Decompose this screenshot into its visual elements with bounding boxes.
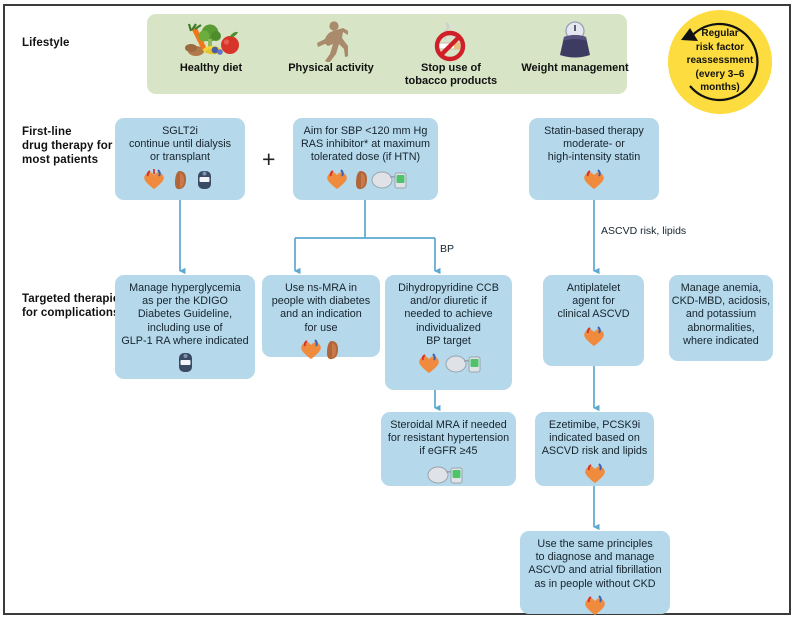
lifestyle-item-weight-management: Weight management [505,20,645,90]
box-statin-icons [529,168,659,195]
box-nsmra-line-1: Use ns-MRA in [262,282,380,295]
box-sglt2i-line-3: or transplant [115,151,245,164]
box-steroidal-mra-icons [381,462,516,491]
box-ccb-line-4: individualized [385,322,512,335]
row-label-targeted-line1: Targeted therapies [22,292,126,306]
box-nsmra-line-3: and an indication [262,308,380,321]
box-sglt2i: SGLT2i continue until dialysis or transp… [115,118,245,200]
reassessment-line-3: reassessment [678,54,762,68]
box-hyperglycemia-icons [115,351,255,378]
box-statin-line-1: Statin-based therapy [529,125,659,138]
box-same-principles: Use the same principles to diagnose and … [520,531,670,614]
heart-icon [584,170,604,189]
box-bp-icons [293,168,438,195]
box-ezetimibe-line-2: indicated based on [535,432,654,445]
heart-icon [584,327,604,346]
box-steroidal-mra-line-2: for resistant hypertension [381,432,516,445]
lifestyle-item-healthy-diet: Healthy diet [151,20,271,90]
box-statin: Statin-based therapy moderate- or high-i… [529,118,659,200]
box-anemia-line-2: CKD-MBD, acidosis, [669,295,773,308]
glucose-meter-icon [179,353,192,372]
reassessment-circle: Regular risk factor reassessment (every … [668,10,772,114]
lifestyle-label-healthy-diet: Healthy diet [151,62,271,75]
heart-icon [585,596,605,615]
box-sglt2i-icons [115,168,245,195]
row-label-first-line-line2: drug therapy for [22,139,112,153]
row-label-first-line-line1: First-line [22,125,112,139]
weight-scale-icon [505,20,645,62]
box-hyperglycemia-line-3: Diabetes Guideline, [115,308,255,321]
reassessment-line-1: Regular [678,27,762,41]
box-statin-line-3: high-intensity statin [529,151,659,164]
box-hyperglycemia-line-4: including use of [115,322,255,335]
box-bp-line-3: tolerated dose (if HTN) [293,151,438,164]
heart-icon [301,340,321,359]
lifestyle-item-stop-tobacco: Stop use of tobacco products [391,20,511,90]
row-label-lifestyle: Lifestyle [22,36,70,50]
box-bp-line-1: Aim for SBP <120 mm Hg [293,125,438,138]
box-anemia-line-4: abnormalities, [669,322,773,335]
box-same-principles-line-4: as in people without CKD [520,578,670,591]
box-ezetimibe: Ezetimibe, PCSK9i indicated based on ASC… [535,412,654,486]
box-hyperglycemia-line-2: as per the KDIGO [115,295,255,308]
figure-root: Lifestyle First-line drug therapy for mo… [0,0,796,622]
lifestyle-item-physical-activity: Physical activity [271,20,391,90]
box-anemia-line-1: Manage anemia, [669,282,773,295]
box-ccb-line-2: and/or diuretic if [385,295,512,308]
box-antiplatelet: Antiplatelet agent for clinical ASCVD [543,275,644,366]
box-nsmra-line-4: for use [262,322,380,335]
box-steroidal-mra-line-1: Steroidal MRA if needed [381,419,516,432]
box-ezetimibe-line-3: ASCVD risk and lipids [535,445,654,458]
box-dihydropyridine-ccb: Dihydropyridine CCB and/or diuretic if n… [385,275,512,390]
row-label-targeted-line2: for complications [22,306,126,320]
lifestyle-label-stop-tobacco-line2: tobacco products [391,75,511,88]
blood-pressure-cuff-icon [428,467,462,483]
box-nsmra-icons [262,338,380,365]
lifestyle-banner: Healthy diet Physical activity [147,14,627,94]
box-ccb-icons [385,351,512,380]
box-steroidal-mra: Steroidal MRA if needed for resistant hy… [381,412,516,486]
box-hyperglycemia-line-5: GLP-1 RA where indicated [115,335,255,348]
box-ezetimibe-line-1: Ezetimibe, PCSK9i [535,419,654,432]
box-bp-line-2: RAS inhibitor* at maximum [293,138,438,151]
box-antiplatelet-icons [543,325,644,352]
heart-icon [327,170,347,189]
box-steroidal-mra-line-3: if eGFR ≥45 [381,445,516,458]
box-manage-hyperglycemia: Manage hyperglycemia as per the KDIGO Di… [115,275,255,379]
box-same-principles-line-1: Use the same principles [520,538,670,551]
blood-pressure-cuff-icon [372,172,406,188]
box-ccb-line-3: needed to achieve [385,308,512,321]
box-same-principles-line-2: to diagnose and manage [520,551,670,564]
box-bp-target: Aim for SBP <120 mm Hg RAS inhibitor* at… [293,118,438,200]
heart-icon [419,354,439,373]
box-manage-anemia: Manage anemia, CKD-MBD, acidosis, and po… [669,275,773,361]
box-antiplatelet-line-1: Antiplatelet [543,282,644,295]
reassessment-line-4: (every 3–6 [678,68,762,82]
box-same-principles-line-3: ASCVD and atrial fibrillation [520,564,670,577]
row-label-first-line: First-line drug therapy for most patient… [22,125,112,167]
row-label-first-line-line3: most patients [22,153,112,167]
heart-icon [144,169,164,189]
box-statin-line-2: moderate- or [529,138,659,151]
blood-pressure-cuff-icon [446,356,480,372]
reassessment-text: Regular risk factor reassessment (every … [678,27,762,95]
no-smoking-icon [391,20,511,62]
box-anemia-line-5: where indicated [669,335,773,348]
connector-label-ascvd: ASCVD risk, lipids [601,225,686,237]
box-nsmra-line-2: people with diabetes [262,295,380,308]
running-person-icon [271,20,391,62]
heart-icon [585,464,605,483]
row-label-targeted: Targeted therapies for complications [22,292,126,320]
box-ezetimibe-icons [535,462,654,489]
lifestyle-label-stop-tobacco-line1: Stop use of [391,62,511,75]
plus-symbol: + [262,148,275,171]
box-same-principles-icons [520,594,670,621]
glucose-meter-icon [198,171,211,189]
kidney-icon [356,171,367,189]
box-anemia-line-3: and potassium [669,308,773,321]
box-antiplatelet-line-2: agent for [543,295,644,308]
box-ccb-line-1: Dihydropyridine CCB [385,282,512,295]
box-ns-mra: Use ns-MRA in people with diabetes and a… [262,275,380,357]
connector-label-bp: BP [440,243,454,255]
reassessment-line-2: risk factor [678,41,762,55]
lifestyle-label-weight-management: Weight management [505,62,645,75]
box-ccb-line-5: BP target [385,335,512,348]
kidney-icon [327,341,338,359]
box-sglt2i-line-2: continue until dialysis [115,138,245,151]
lifestyle-label-physical-activity: Physical activity [271,62,391,75]
box-hyperglycemia-line-1: Manage hyperglycemia [115,282,255,295]
box-sglt2i-line-1: SGLT2i [115,125,245,138]
kidney-icon [175,171,186,189]
reassessment-line-5: months) [678,81,762,95]
box-antiplatelet-line-3: clinical ASCVD [543,308,644,321]
vegetables-fruit-icon [151,20,271,62]
